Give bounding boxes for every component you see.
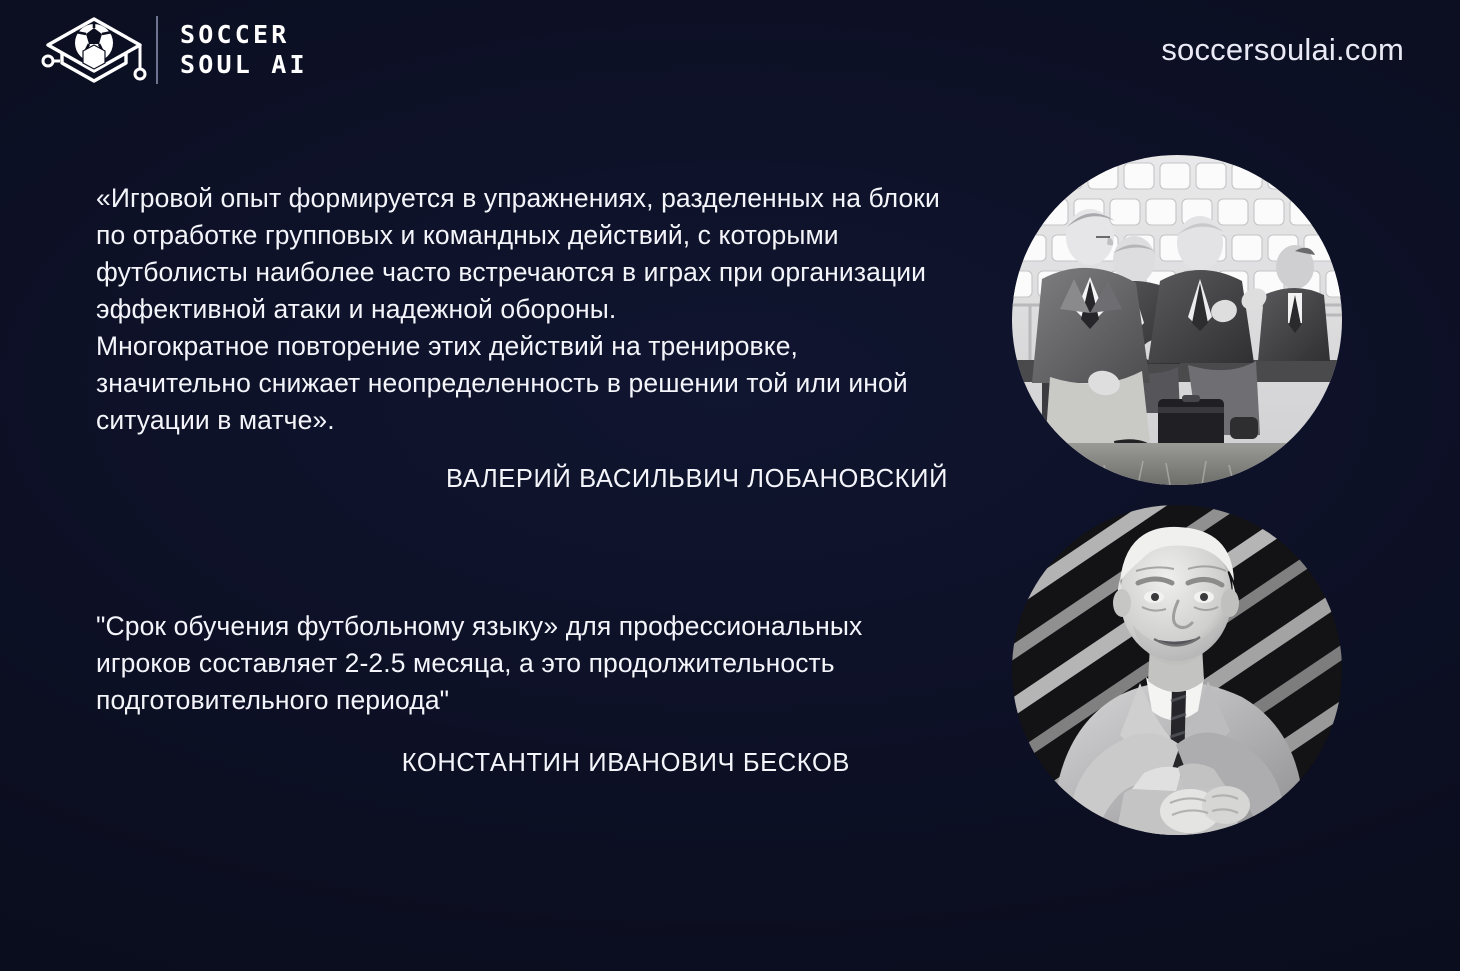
header: SOCCER SOUL AI soccersoulai.com — [0, 0, 1460, 100]
slide-root: SOCCER SOUL AI soccersoulai.com «Игровой… — [0, 0, 1460, 971]
site-url[interactable]: soccersoulai.com — [1161, 32, 1404, 68]
quote-text-1: «Игровой опыт формируется в упражнениях,… — [96, 180, 956, 439]
graduation-cap-soccer-ball-icon — [40, 11, 148, 89]
quote-block-1: «Игровой опыт формируется в упражнениях,… — [96, 180, 956, 494]
quote-text-2: "Срок обучения футбольному языку» для пр… — [96, 608, 896, 719]
portrait-photo-beskov — [1012, 505, 1342, 835]
brand-wordmark: SOCCER SOUL AI — [180, 21, 308, 79]
brand-logo[interactable]: SOCCER SOUL AI — [40, 11, 308, 89]
quote-author-2: КОНСТАНТИН ИВАНОВИЧ БЕСКОВ — [96, 749, 896, 778]
brand-name-line-2: SOUL AI — [180, 51, 308, 79]
quote-block-2: "Срок обучения футбольному языку» для пр… — [96, 608, 896, 778]
brand-name-line-1: SOCCER — [180, 21, 308, 49]
brand-divider — [156, 16, 158, 84]
quote-author-1: ВАЛЕРИЙ ВАСИЛЬВИЧ ЛОБАНОВСКИЙ — [96, 465, 956, 494]
portrait-photo-lobanovsky — [1012, 155, 1342, 485]
